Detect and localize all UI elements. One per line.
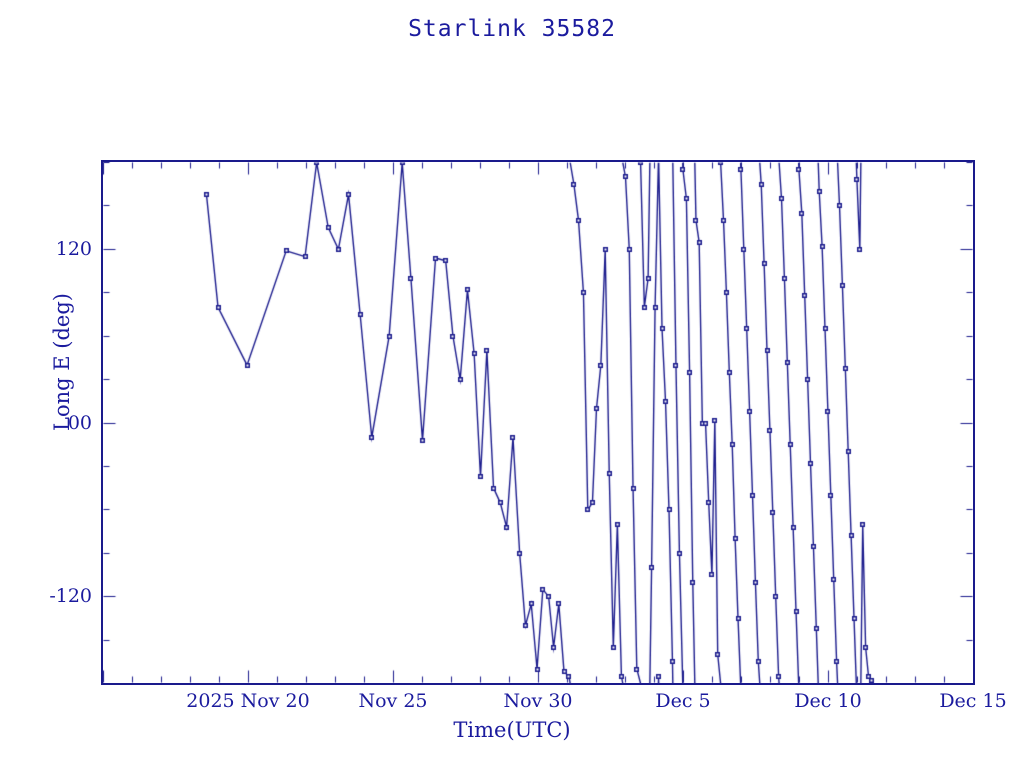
plot-data-canvas xyxy=(103,162,973,683)
x-tick-label-nov25: Nov 25 xyxy=(358,690,427,712)
y-tick-label-120: 120 xyxy=(56,238,92,260)
y-axis-title: Long E (deg) xyxy=(50,262,74,462)
x-tick-label-nov20: 2025 Nov 20 xyxy=(186,690,309,712)
x-tick-label-dec10: Dec 10 xyxy=(794,690,861,712)
x-tick-label-dec5: Dec 5 xyxy=(655,690,710,712)
plot-frame xyxy=(101,160,975,685)
y-tick-label-minus120: -120 xyxy=(49,585,92,607)
x-axis-title: Time(UTC) xyxy=(0,718,1024,742)
y-axis-tick-labels: 120 00 -120 xyxy=(0,0,92,768)
chart-title: Starlink 35582 xyxy=(0,16,1024,42)
x-tick-label-dec15: Dec 15 xyxy=(939,690,1006,712)
x-tick-label-nov30: Nov 30 xyxy=(503,690,572,712)
chart-figure: Starlink 35582 120 00 -120 Long E (deg) … xyxy=(0,0,1024,768)
